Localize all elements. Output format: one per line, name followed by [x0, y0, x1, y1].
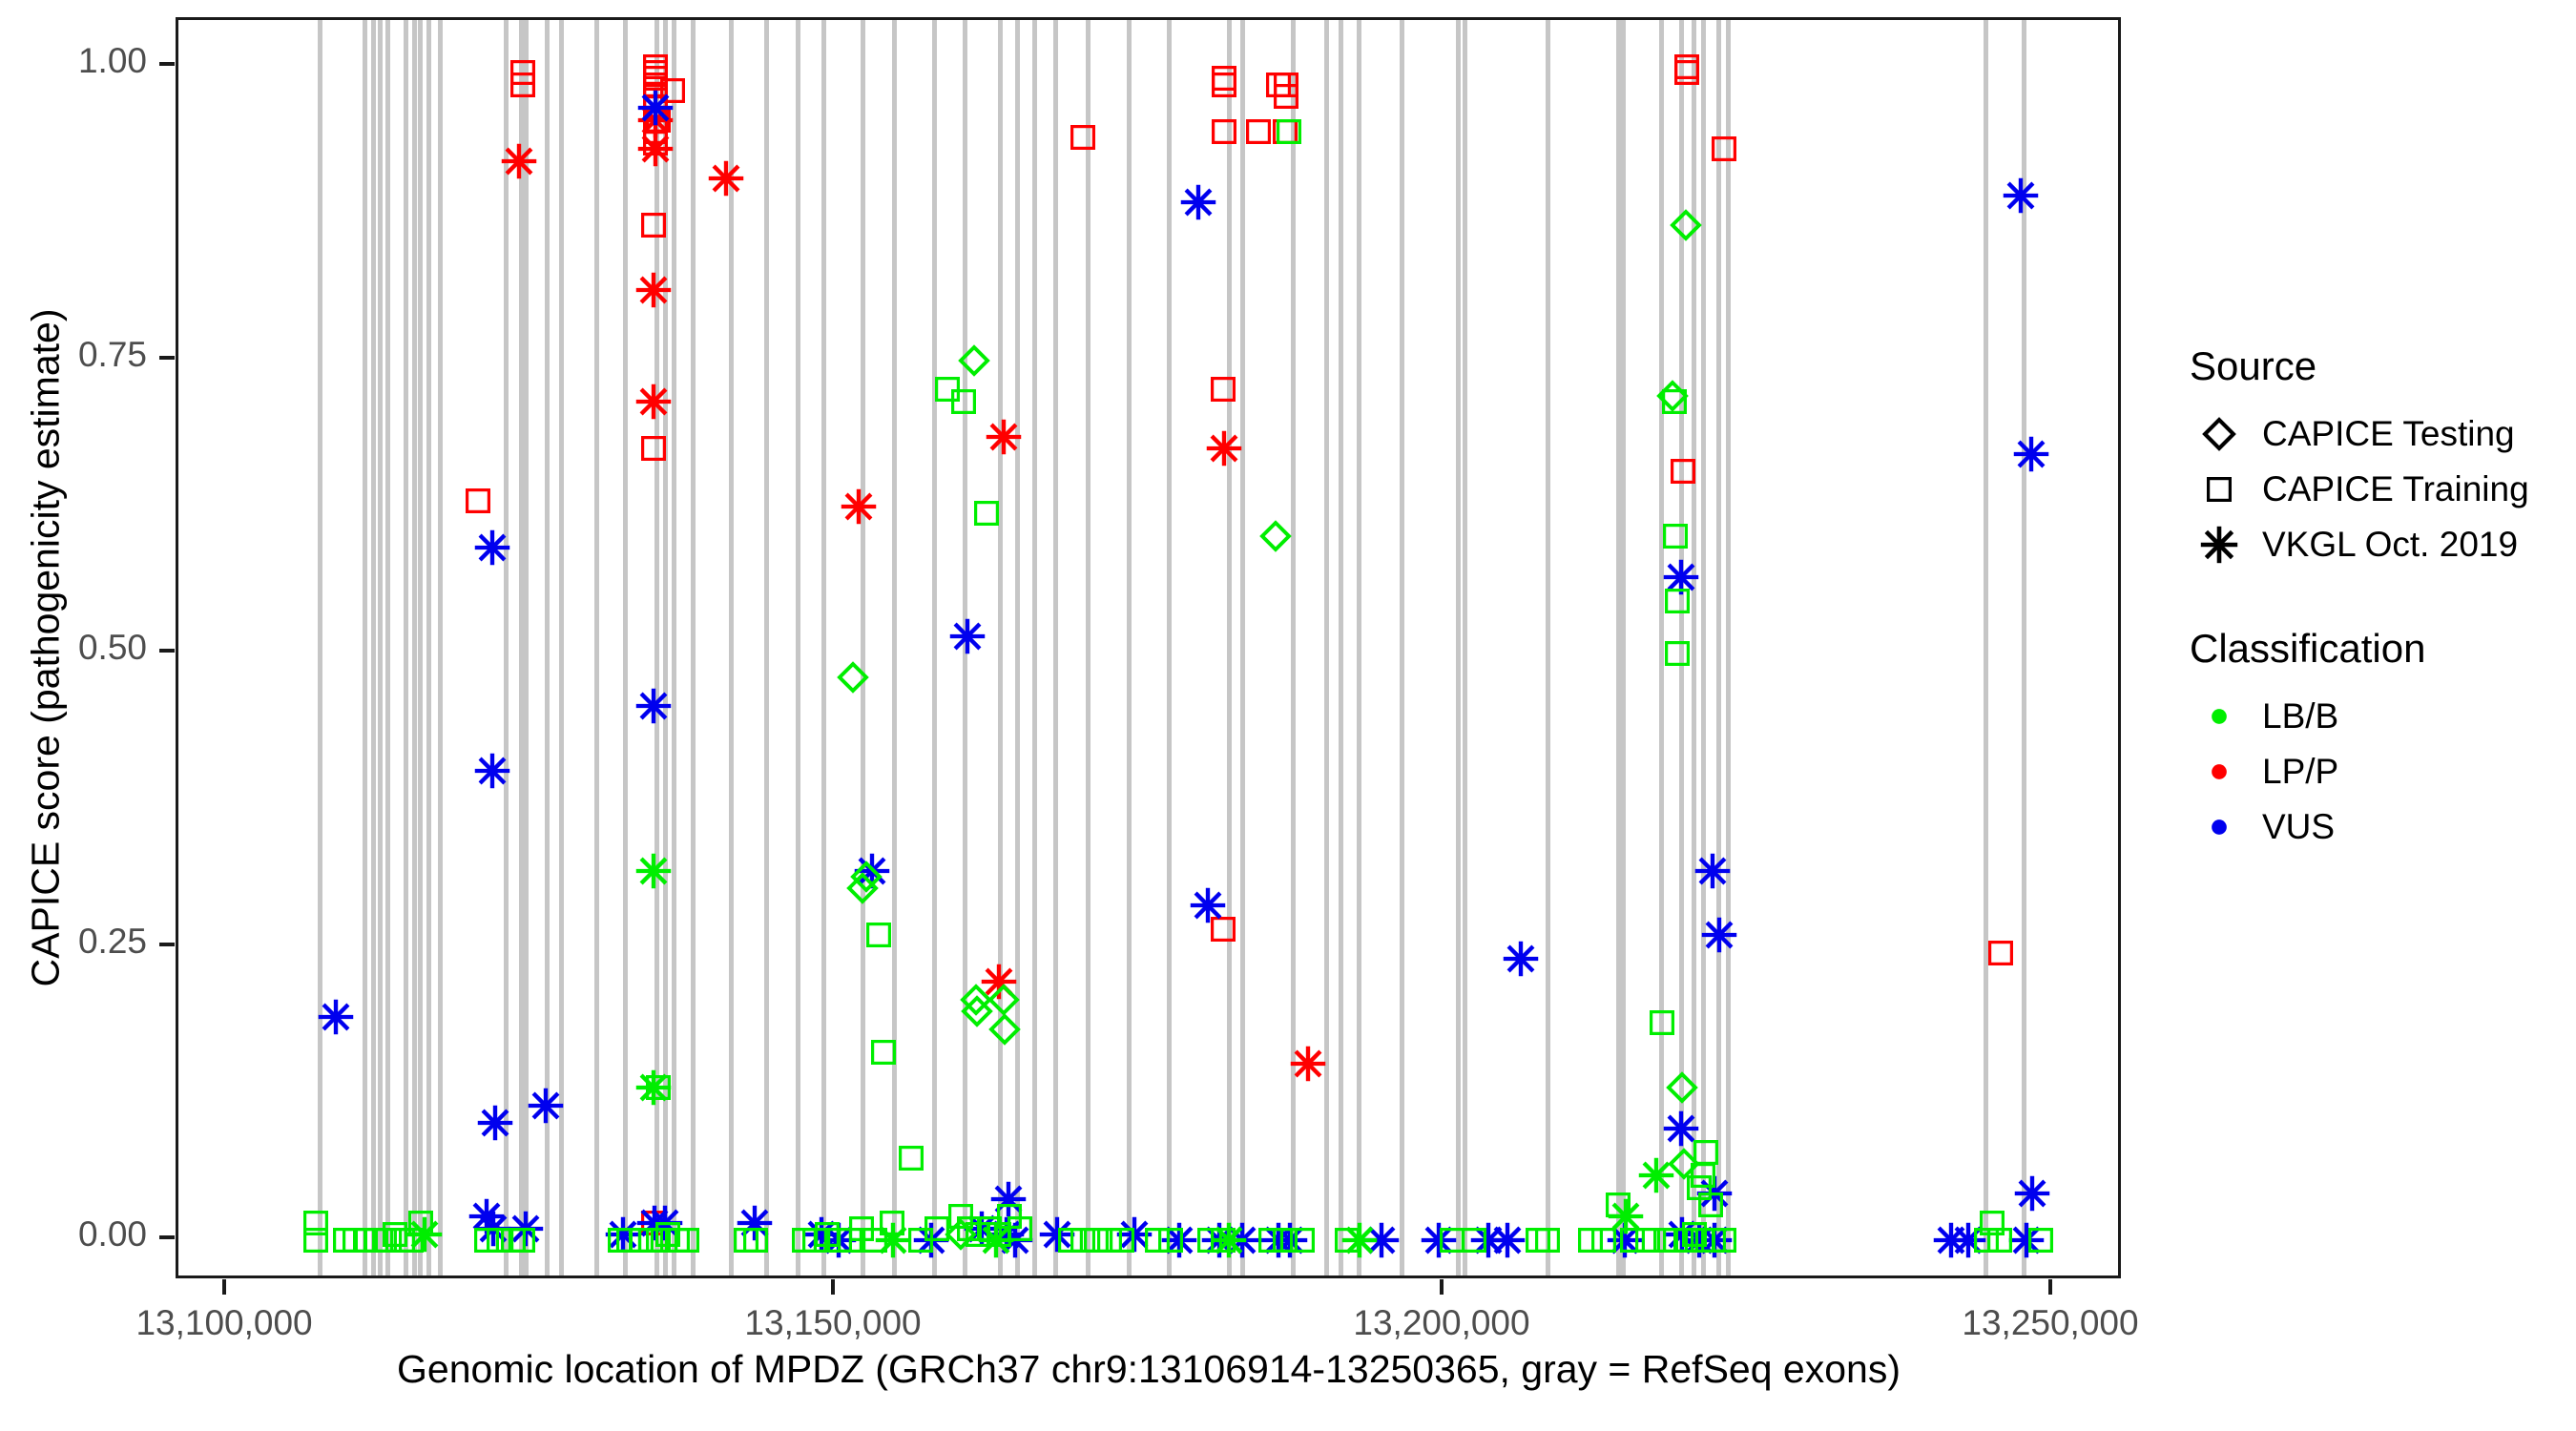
data-point-asterisk-vus	[964, 1211, 1000, 1247]
exon-line	[594, 20, 599, 1275]
data-point-square-lbb	[1634, 1227, 1661, 1254]
y-tick-label: 0.25	[0, 922, 147, 962]
exon-line	[1015, 20, 1020, 1275]
exon-line	[796, 20, 800, 1275]
data-point-square-lpp	[1070, 124, 1096, 151]
x-tick-mark	[222, 1279, 226, 1295]
exon-line	[672, 20, 676, 1275]
exon-line	[963, 20, 967, 1275]
exon-line	[691, 20, 696, 1275]
exon-line	[426, 20, 431, 1275]
data-point-asterisk-vus	[1116, 1216, 1153, 1253]
data-point-asterisk-vus	[1421, 1222, 1457, 1258]
data-point-square-lbb	[826, 1227, 853, 1254]
exon-line	[545, 20, 550, 1275]
exon-line	[654, 20, 659, 1275]
data-point-square-lbb	[1196, 1227, 1223, 1254]
data-point-diamond-lbb	[850, 861, 883, 893]
legend-item-capice-training[interactable]: CAPICE Training	[2190, 462, 2571, 517]
data-point-square-lpp	[1987, 940, 2014, 966]
data-point-square-lbb	[965, 1221, 991, 1248]
data-point-square-lbb	[473, 1227, 500, 1254]
data-point-square-lbb	[1439, 1227, 1465, 1254]
data-point-square-lbb	[664, 1227, 691, 1254]
data-point-square-lbb	[973, 500, 1000, 527]
data-point-square-lbb	[1664, 640, 1691, 667]
legend-item-capice-testing[interactable]: CAPICE Testing	[2190, 406, 2571, 462]
y-tick-mark	[159, 1235, 175, 1239]
data-point-square-lbb	[1096, 1227, 1123, 1254]
exon-line	[1692, 20, 1696, 1275]
y-tick-label: 0.75	[0, 335, 147, 375]
data-point-asterisk-lbb	[1608, 1198, 1644, 1234]
exon-line	[378, 20, 383, 1275]
data-point-asterisk-lpp	[1206, 430, 1242, 467]
exon-line	[363, 20, 367, 1275]
data-point-square-lbb	[1057, 1227, 1084, 1254]
y-tick-mark	[159, 62, 175, 66]
exon-line	[861, 20, 865, 1275]
data-point-asterisk-lpp	[708, 160, 744, 197]
legend-key-diamond-open-icon	[2190, 406, 2249, 462]
data-point-square-lpp	[1245, 118, 1272, 145]
data-point-asterisk-vus	[318, 999, 354, 1035]
data-point-diamond-lbb	[1670, 209, 1702, 241]
data-point-square-lpp	[1265, 72, 1292, 98]
data-point-square-lbb	[934, 376, 961, 403]
data-point-square-lpp	[1211, 65, 1237, 92]
exon-line	[1127, 20, 1132, 1275]
data-point-asterisk-vus	[1681, 1222, 1717, 1258]
data-point-diamond-lbb	[945, 1218, 977, 1251]
data-point-square-lbb	[956, 1215, 983, 1242]
data-point-asterisk-vus	[913, 1222, 949, 1258]
exon-line	[1324, 20, 1329, 1275]
exon-line	[371, 20, 376, 1275]
data-point-square-lbb	[1662, 523, 1689, 550]
exon-line	[1456, 20, 1461, 1275]
data-point-square-lbb	[302, 1210, 329, 1236]
plot-panel	[176, 17, 2121, 1278]
legend-item-lp-p[interactable]: LP/P	[2190, 744, 2571, 799]
data-point-square-lbb	[1686, 1174, 1713, 1201]
data-point-square-lpp	[1210, 376, 1236, 403]
y-tick-label: 1.00	[0, 41, 147, 81]
x-tick-label: 13,200,000	[1289, 1303, 1594, 1343]
data-point-square-lbb	[947, 1203, 974, 1230]
legend-label: VKGL Oct. 2019	[2249, 525, 2518, 565]
exon-line	[1032, 20, 1037, 1275]
exon-line	[932, 20, 937, 1275]
legend-label: LP/P	[2249, 752, 2338, 792]
exon-line	[1716, 20, 1721, 1275]
exon-line	[1339, 20, 1343, 1275]
legend-title: Source	[2190, 343, 2571, 389]
data-point-square-lbb	[1276, 118, 1302, 145]
x-tick-mark	[1440, 1279, 1444, 1295]
data-point-square-lbb	[1257, 1227, 1284, 1254]
data-point-square-lpp	[1211, 72, 1237, 98]
exon-line	[663, 20, 668, 1275]
exon-line	[404, 20, 408, 1275]
data-point-square-lbb	[1986, 1227, 2013, 1254]
exon-line	[821, 20, 826, 1275]
exon-line	[1463, 20, 1467, 1275]
data-point-asterisk-vus	[2014, 1175, 2050, 1212]
data-point-diamond-lbb	[1259, 520, 1292, 552]
exon-line	[559, 20, 564, 1275]
legend-label: LB/B	[2249, 696, 2338, 736]
legend-label: CAPICE Testing	[2249, 414, 2515, 454]
data-point-asterisk-vus	[1470, 1222, 1506, 1258]
exon-line	[504, 20, 509, 1275]
y-tick-mark	[159, 649, 175, 653]
legend-title: Classification	[2190, 626, 2571, 672]
exon-line	[892, 20, 897, 1275]
data-point-square-lbb	[302, 1227, 329, 1254]
data-point-asterisk-lbb	[978, 1222, 1014, 1258]
data-point-square-lbb	[1664, 588, 1691, 614]
legend-item-lb-b[interactable]: LB/B	[2190, 689, 2571, 744]
x-tick-mark	[2048, 1279, 2052, 1295]
capice-scatter-figure: CAPICE score (pathogenicity estimate) 0.…	[0, 0, 2576, 1431]
exon-line	[729, 20, 734, 1275]
data-point-square-lbb	[615, 1227, 642, 1254]
exon-line	[385, 20, 390, 1275]
data-point-square-lbb	[814, 1221, 841, 1248]
exon-line	[1546, 20, 1550, 1275]
legend-block-source: SourceCAPICE TestingCAPICE TrainingVKGL …	[2190, 343, 2571, 572]
data-point-square-lbb	[607, 1227, 634, 1254]
data-point-square-lbb	[907, 1227, 934, 1254]
data-point-asterisk-lpp	[841, 488, 877, 525]
data-point-square-lbb	[1007, 1215, 1033, 1242]
legend-label: VUS	[2249, 807, 2335, 847]
data-point-square-lbb	[733, 1227, 759, 1254]
data-point-asterisk-vus	[1950, 1222, 1986, 1258]
data-point-asterisk-vus	[2003, 177, 2039, 214]
data-point-square-lbb	[1577, 1227, 1604, 1254]
data-point-square-lbb	[637, 1227, 664, 1254]
data-point-asterisk-vus	[1201, 1222, 1237, 1258]
exon-line	[1726, 20, 1731, 1275]
data-point-square-lbb	[674, 1227, 700, 1254]
data-point-square-lpp	[1211, 118, 1237, 145]
legend-key-asterisk-icon	[2190, 517, 2249, 572]
exon-line	[2022, 20, 2026, 1275]
exon-line	[1679, 20, 1684, 1275]
data-point-square-lbb	[862, 1227, 888, 1254]
data-point-square-lbb	[1210, 1227, 1236, 1254]
legend: SourceCAPICE TestingCAPICE TrainingVKGL …	[2190, 343, 2571, 908]
exon-line	[1291, 20, 1296, 1275]
data-point-asterisk-vus	[1272, 1222, 1308, 1258]
legend-key-circle-filled-icon	[2190, 689, 2249, 744]
data-point-asterisk-vus	[468, 1198, 505, 1234]
exon-line	[998, 20, 1003, 1275]
exon-line	[1240, 20, 1245, 1275]
data-point-asterisk-vus	[1933, 1222, 1969, 1258]
legend-key-circle-filled-icon	[2190, 799, 2249, 855]
exon-line	[1167, 20, 1172, 1275]
exon-line	[1621, 20, 1626, 1275]
data-point-square-lbb	[865, 922, 892, 948]
data-point-asterisk-vus	[1190, 887, 1226, 923]
legend-block-classification: ClassificationLB/BLP/PVUS	[2190, 626, 2571, 855]
data-point-asterisk-vus	[1180, 184, 1216, 220]
x-tick-label: 13,100,000	[72, 1303, 377, 1343]
exon-line	[524, 20, 529, 1275]
legend-item-vus[interactable]: VUS	[2190, 799, 2571, 855]
exon-line	[1659, 20, 1664, 1275]
x-tick-label: 13,150,000	[680, 1303, 986, 1343]
data-point-asterisk-vus	[949, 618, 986, 654]
legend-item-vkgl-oct--2019[interactable]: VKGL Oct. 2019	[2190, 517, 2571, 572]
data-point-square-lbb	[924, 1215, 950, 1242]
legend-key-circle-filled-icon	[2190, 744, 2249, 799]
x-tick-mark	[831, 1279, 835, 1295]
exon-line	[1400, 20, 1404, 1275]
exon-line	[764, 20, 769, 1275]
data-point-square-lbb	[1652, 1227, 1679, 1254]
x-axis-title: Genomic location of MPDZ (GRCh37 chr9:13…	[176, 1347, 2122, 1392]
data-point-asterisk-vus	[2013, 436, 2049, 472]
exon-line	[438, 20, 443, 1275]
exon-line	[418, 20, 423, 1275]
data-point-square-lbb	[332, 1227, 359, 1254]
data-point-square-lbb	[898, 1145, 924, 1172]
exon-line	[318, 20, 322, 1275]
exon-line	[1701, 20, 1706, 1275]
exon-line	[1357, 20, 1361, 1275]
exon-line	[412, 20, 417, 1275]
data-point-square-lbb	[1070, 1227, 1096, 1254]
legend-key-square-open-icon	[2190, 462, 2249, 517]
data-point-square-lbb	[1662, 1227, 1689, 1254]
data-point-asterisk-vus	[990, 1181, 1027, 1217]
data-point-asterisk-vus	[1503, 941, 1539, 977]
y-tick-label: 0.50	[0, 628, 147, 668]
data-point-asterisk-vus	[1363, 1222, 1400, 1258]
x-tick-label: 13,250,000	[1898, 1303, 2203, 1343]
data-point-square-lpp	[465, 487, 491, 514]
data-point-square-lbb	[2027, 1227, 2054, 1254]
data-point-asterisk-vus	[2008, 1222, 2045, 1258]
legend-label: CAPICE Training	[2249, 469, 2529, 509]
y-tick-mark	[159, 356, 175, 360]
data-point-square-lbb	[628, 1227, 654, 1254]
y-tick-mark	[159, 943, 175, 946]
y-tick-label: 0.00	[0, 1214, 147, 1255]
exon-line	[623, 20, 628, 1275]
exon-line	[1227, 20, 1232, 1275]
data-point-asterisk-vus	[1489, 1222, 1526, 1258]
data-point-square-lbb	[1590, 1227, 1617, 1254]
exon-line	[1086, 20, 1091, 1275]
data-point-square-lpp	[1210, 916, 1236, 943]
exon-line	[1053, 20, 1058, 1275]
exon-line	[1984, 20, 1988, 1275]
data-point-asterisk-lbb	[1638, 1157, 1674, 1193]
